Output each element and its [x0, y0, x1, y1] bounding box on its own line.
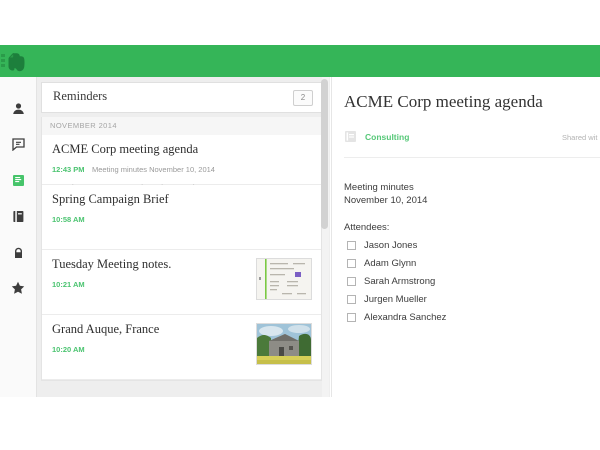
sidebar-item-notes[interactable]	[0, 127, 36, 161]
note-list-scrollbar-track[interactable]	[322, 77, 329, 397]
note-timestamp: 10:58 AM	[52, 215, 85, 224]
date-group-header: NOVEMBER 2014	[41, 117, 322, 135]
attendees-label: Attendees:	[344, 222, 594, 233]
sidebar-rail	[0, 77, 37, 397]
note-title: ACME Corp meeting agenda	[52, 142, 311, 157]
barn-photo-thumbnail	[256, 323, 312, 365]
checkbox[interactable]	[347, 241, 356, 250]
notebook-icon	[12, 210, 25, 223]
note-body-line: Meeting minutes	[344, 181, 594, 194]
date-group-label: NOVEMBER 2014	[50, 121, 117, 130]
list-item[interactable]: Tuesday Meeting notes. 10:21 AM	[42, 250, 321, 315]
attendee-name: Jason Jones	[364, 240, 417, 251]
note-list-panel: Reminders 2 NOVEMBER 2014 ACME Corp meet…	[37, 77, 330, 397]
list-item[interactable]: Grand Auque, France 10:20 AM	[42, 315, 321, 380]
note-timestamp: 10:21 AM	[52, 280, 85, 289]
checkbox[interactable]	[347, 295, 356, 304]
attendee-name: Alexandra Sanchez	[364, 312, 446, 323]
shared-with-label[interactable]: Shared wit	[562, 133, 597, 142]
notebook-icon[interactable]	[344, 130, 357, 148]
note-list-scrollbar-thumb[interactable]	[321, 79, 328, 229]
note-list-icon	[12, 174, 25, 187]
scanned-note-thumbnail	[256, 258, 312, 300]
list-item[interactable]: Spring Campaign Brief 10:58 AM	[42, 185, 321, 250]
note-body-line: November 10, 2014	[344, 194, 594, 207]
list-item[interactable]: Sarah Armstrong	[344, 276, 594, 287]
reminders-count-badge: 2	[293, 90, 313, 106]
list-item[interactable]: Jurgen Mueller	[344, 294, 594, 305]
account-icon	[12, 102, 25, 115]
menu-icon[interactable]	[1, 54, 5, 67]
note-title: Spring Campaign Brief	[52, 192, 311, 207]
checkbox[interactable]	[347, 313, 356, 322]
divider	[344, 157, 600, 158]
list-item[interactable]: Alexandra Sanchez	[344, 312, 594, 323]
note-meta-row: Consulting Shared wit	[344, 129, 600, 147]
evernote-elephant-icon[interactable]	[8, 52, 27, 72]
reminders-label: Reminders	[53, 89, 107, 104]
top-bar	[0, 45, 600, 77]
checkbox[interactable]	[347, 277, 356, 286]
note-timestamp: 10:20 AM	[52, 345, 85, 354]
sidebar-item-account[interactable]	[0, 91, 36, 125]
sidebar-item-notes-list[interactable]	[0, 163, 36, 197]
note-preview: 10:58 AM	[52, 209, 311, 227]
evernote-window: Reminders 2 NOVEMBER 2014 ACME Corp meet…	[0, 45, 600, 397]
list-item[interactable]: Jason Jones	[344, 240, 594, 251]
sidebar-item-tags[interactable]	[0, 235, 36, 269]
list-item[interactable]: Adam Glynn	[344, 258, 594, 269]
list-item[interactable]: ACME Corp meeting agenda 12:43 PM Meetin…	[42, 135, 321, 185]
sidebar-item-notebooks[interactable]	[0, 199, 36, 233]
attendee-name: Sarah Armstrong	[364, 276, 435, 287]
tag-icon	[12, 246, 25, 259]
notebook-name[interactable]: Consulting	[365, 132, 409, 142]
attendee-name: Jurgen Mueller	[364, 294, 427, 305]
note-icon	[12, 138, 25, 151]
note-body[interactable]: Meeting minutes November 10, 2014 Attend…	[344, 181, 594, 323]
star-icon	[11, 281, 25, 295]
sidebar-item-shortcuts[interactable]	[0, 271, 36, 305]
note-detail-panel: ACME Corp meeting agenda Consulting Shar…	[331, 77, 600, 397]
page-title: ACME Corp meeting agenda	[344, 92, 543, 112]
checkbox[interactable]	[347, 259, 356, 268]
note-timestamp: 12:43 PM	[52, 165, 85, 174]
reminders-bar[interactable]: Reminders 2	[41, 82, 322, 113]
attendee-name: Adam Glynn	[364, 258, 416, 269]
note-list: ACME Corp meeting agenda 12:43 PM Meetin…	[41, 135, 322, 381]
